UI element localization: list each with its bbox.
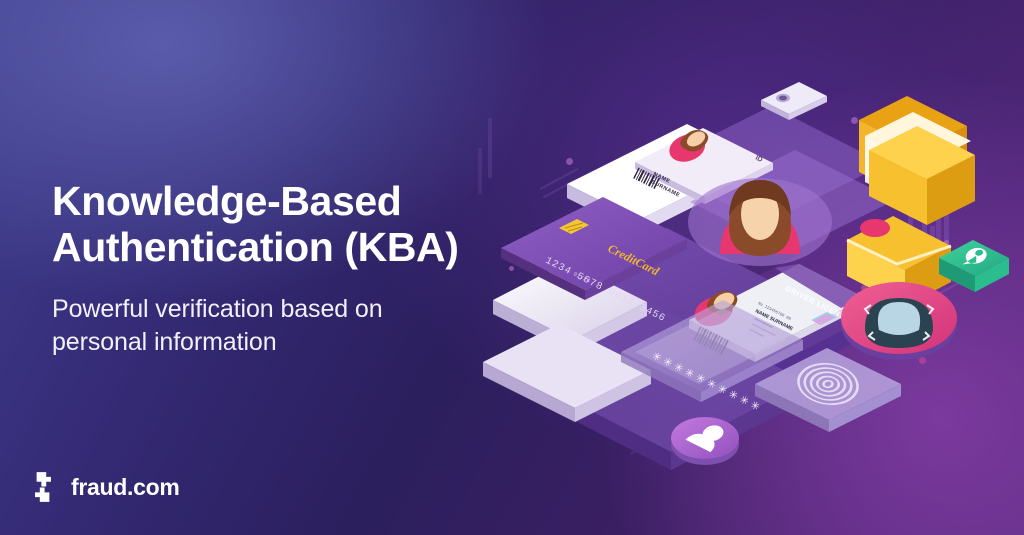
logo-wordmark: fraud.com — [71, 474, 179, 501]
subhead-line-1: Powerful verification based on — [52, 293, 522, 326]
copy-block: Knowledge-Based Authentication (KBA) Pow… — [52, 178, 522, 359]
headline-line-2: Authentication (KBA) — [52, 224, 522, 270]
headline-line-1: Knowledge-Based — [52, 178, 522, 224]
kba-marketing-banner: Knowledge-Based Authentication (KBA) Pow… — [0, 0, 1024, 535]
brand-logo[interactable]: fraud.com — [26, 470, 179, 504]
profile-portrait-badge — [688, 178, 832, 266]
page-subtitle: Powerful verification based on personal … — [52, 293, 522, 359]
identity-verification-illustration: 1234 5678 9012 3456 01/24 CreditCard NAM… — [455, 62, 1024, 482]
fraud-logomark-icon — [26, 470, 60, 504]
page-title: Knowledge-Based Authentication (KBA) — [52, 178, 522, 271]
face-recognition-icon[interactable] — [841, 282, 957, 360]
user-avatar-icon[interactable] — [671, 417, 739, 465]
subhead-line-2: personal information — [52, 326, 522, 359]
